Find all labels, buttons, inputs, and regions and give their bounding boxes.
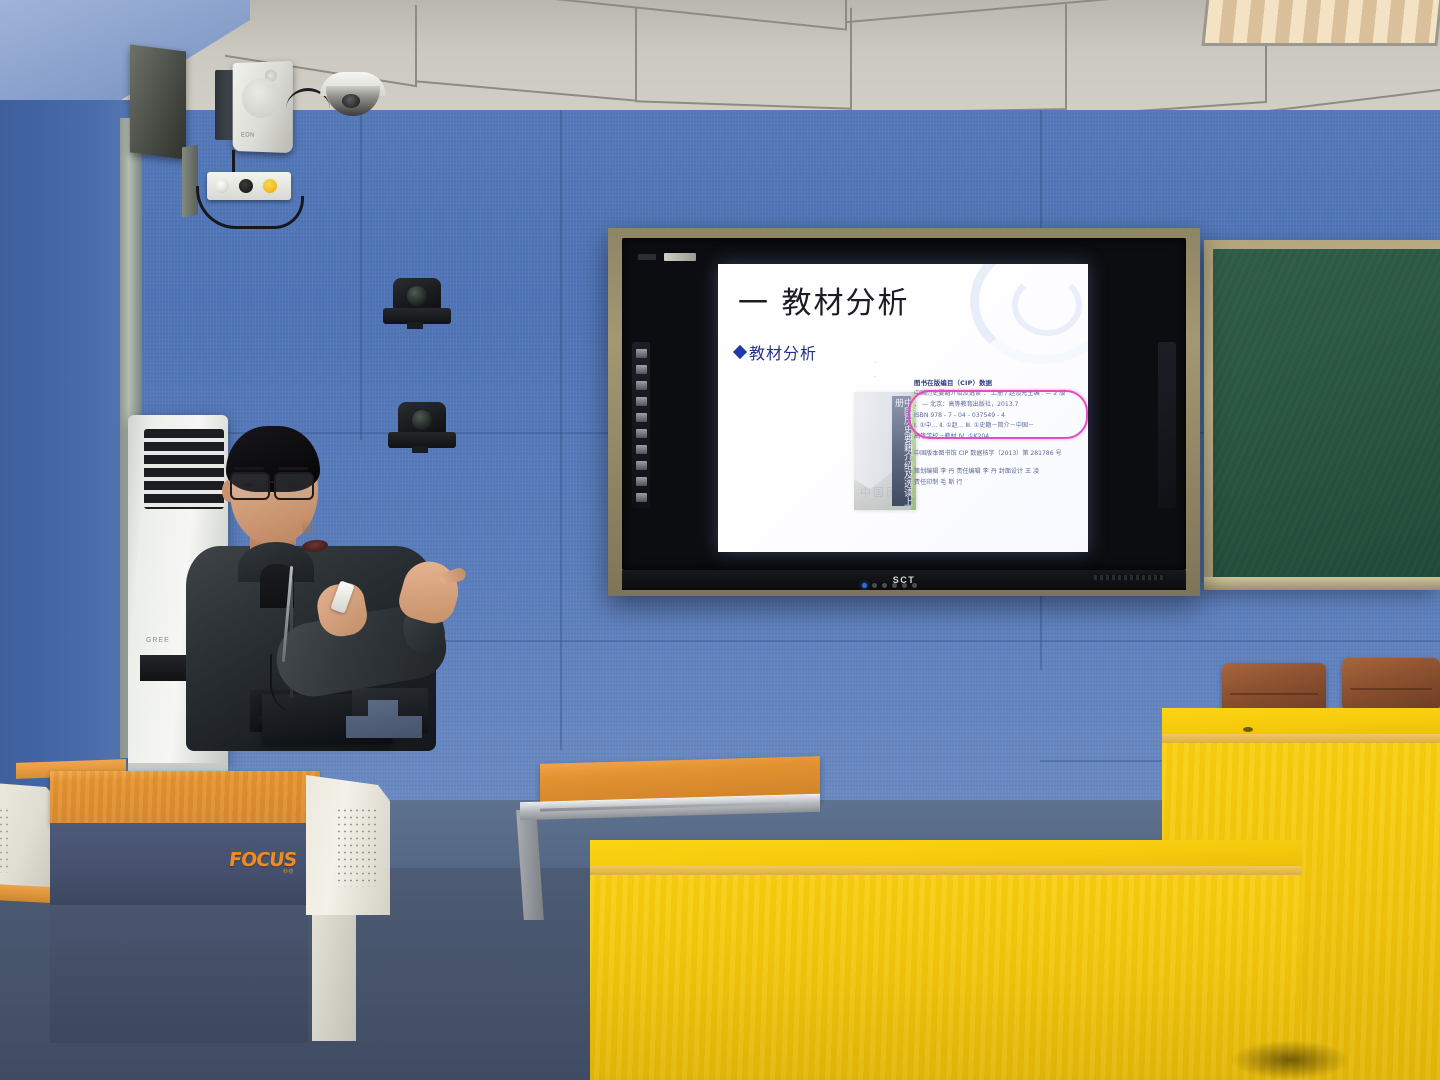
page-icon[interactable] [636,445,647,454]
chalk-ledge [1204,577,1440,590]
side-wall [0,100,135,800]
select-icon[interactable] [636,397,647,406]
settings-icon[interactable] [636,477,647,486]
source-button[interactable] [882,583,887,588]
slide-tick-marks: ·· [874,356,876,385]
wall-speaker: EON [233,61,293,153]
volume-down-button[interactable] [892,583,897,588]
ptz-camera-upper [383,278,451,336]
power-outlet-panel[interactable] [207,172,291,200]
podium-left-speaker-grill [0,807,8,873]
podium-lower-body [50,903,308,1043]
eraser-icon[interactable] [636,365,647,374]
display-button-row[interactable] [862,583,917,588]
classroom-scene: EON GREE [0,0,1440,1080]
power-led [862,583,867,588]
green-chalkboard [1204,240,1440,590]
display-top-label [664,253,696,261]
slide-bullet-text: 教材分析 [749,340,817,364]
podium-speaker-grill [336,807,376,887]
podium-side-leg [312,911,356,1041]
diamond-bullet-icon [733,345,747,359]
textbook-cover-image: 中国历史 中国历史要籍介绍及选读上册 [854,392,916,510]
slide-bullet-row: 教材分析 [735,340,817,364]
chalkboard-surface [1213,249,1440,578]
cip-line: 中国版本图书馆 CIP 数据核字（2013）第 281786 号 [914,449,1080,460]
display-bottom-bezel: SCT [622,570,1186,590]
display-screen[interactable]: 一 教材分析 教材分析 ·· 中国历史 中国历史要籍介绍及选读上册 图书在版编目… [622,238,1186,570]
student-desk-front[interactable] [590,840,1302,1080]
desk-cable-grommet [1243,727,1253,732]
cip-line: 策划编辑 李 丹 责任编辑 李 丹 封面设计 王 凌 [914,467,1080,478]
podium-brand-sub: 科技 [283,868,294,875]
wall-bracket [130,45,186,160]
chair-back[interactable] [1342,658,1440,708]
undo-icon[interactable] [636,413,647,422]
chair-back[interactable] [1222,663,1326,713]
pink-highlight-annotation [908,390,1088,439]
menu-button[interactable] [872,583,877,588]
speaker-brand-label: EON [241,133,255,139]
save-icon[interactable] [636,461,647,470]
interactive-flat-panel[interactable]: 一 教材分析 教材分析 ·· 中国历史 中国历史要籍介绍及选读上册 图书在版编目… [608,228,1200,596]
display-speaker-vent [1094,575,1164,580]
whiteboard-right-toolbar[interactable] [1158,342,1176,508]
podium-wood-top [50,771,320,825]
presenter-nose [302,518,314,534]
podium-front-panel: FOCUS 科技 [50,823,310,905]
floor-shadow [1230,1040,1350,1080]
wall-bracket-arm [182,145,198,218]
shapes-icon[interactable] [636,381,647,390]
slide-title: 一 教材分析 [738,278,910,322]
powerpoint-slide[interactable]: 一 教材分析 教材分析 ·· 中国历史 中国历史要籍介绍及选读上册 图书在版编目… [718,264,1088,552]
power-button[interactable] [912,583,917,588]
ceiling-light-panel [1201,0,1440,46]
podium-side-panel [306,775,390,915]
outlet-switch-right[interactable] [263,179,277,193]
teaching-podium[interactable]: FOCUS 科技 [0,735,400,965]
volume-up-button[interactable] [902,583,907,588]
redo-icon[interactable] [636,429,647,438]
outlet-socket-center[interactable] [239,179,253,193]
pen-icon[interactable] [636,349,647,358]
ac-brand-label: GREE [146,637,170,644]
slide-decoration-swirl-small [1012,274,1082,336]
display-top-logo [638,254,656,260]
close-icon[interactable] [636,493,647,502]
outlet-switch-left[interactable] [215,179,229,193]
eyeglasses [230,472,324,498]
dome-camera [320,72,386,118]
cip-heading: 图书在版编目（CIP）数据 [914,378,1080,389]
cip-line: 责任印制 毛 斯 行 [914,478,1080,489]
whiteboard-left-toolbar[interactable] [632,342,650,508]
